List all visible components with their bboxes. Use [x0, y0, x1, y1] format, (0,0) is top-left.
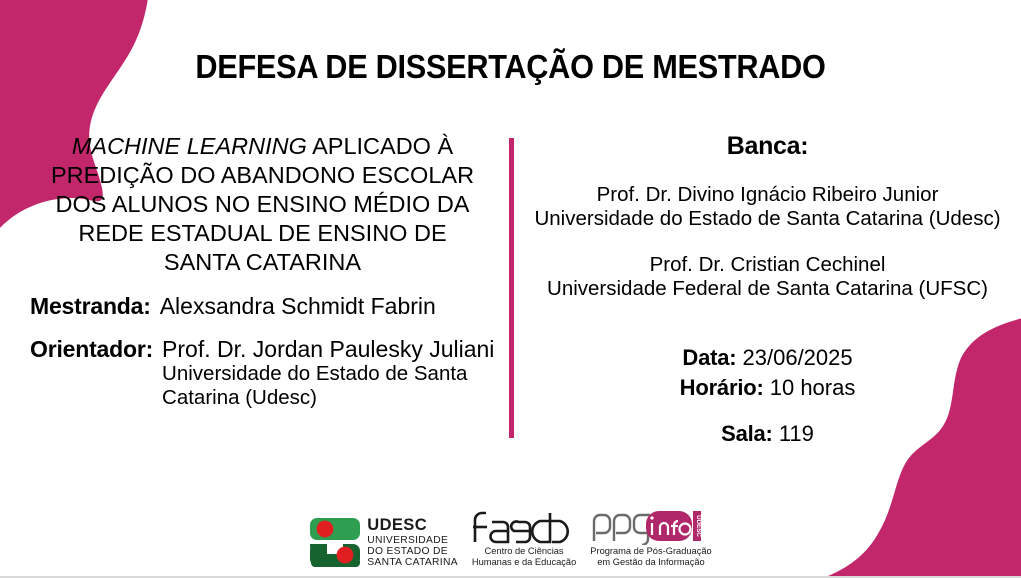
defense-announcement-poster: DEFESA DE DISSERTAÇÃO DE MESTRADO MACHIN…: [0, 0, 1021, 578]
mestranda-name: Alexsandra Schmidt Fabrin: [160, 293, 436, 319]
event-room-line: Sala: 119: [520, 419, 1015, 449]
ppginfo-logo: UDESC Programa de Pós-Graduação em Gestã…: [590, 507, 711, 568]
mestranda-row: Mestranda: Alexsandra Schmidt Fabrin: [30, 293, 495, 320]
faed-subtitle: Centro de Ciências Humanas e da Educação: [472, 546, 576, 568]
ppginfo-line2: em Gestão da Informação: [590, 557, 711, 568]
ppginfo-subtitle: Programa de Pós-Graduação em Gestão da I…: [590, 546, 711, 568]
orientador-institution: Universidade do Estado de Santa Catarina…: [162, 362, 495, 410]
udesc-line1: UNIVERSIDADE: [367, 535, 458, 546]
faed-logo: Centro de Ciências Humanas e da Educação: [472, 510, 576, 568]
banca-member-name: Prof. Dr. Cristian Cechinel: [520, 253, 1015, 277]
event-date-line: Data: 23/06/2025: [520, 343, 1015, 373]
udesc-emblem-icon: [309, 517, 361, 567]
event-time-label: Horário:: [680, 375, 764, 400]
event-room-value: 119: [779, 421, 814, 446]
column-divider: [509, 138, 514, 438]
banca-member-name: Prof. Dr. Divino Ignácio Ribeiro Junior: [520, 183, 1015, 207]
faed-wordmark-icon: [472, 510, 572, 544]
event-date-label: Data:: [682, 345, 736, 370]
page-title: DEFESA DE DISSERTAÇÃO DE MESTRADO: [36, 48, 986, 86]
orientador-row: Orientador: Prof. Dr. Jordan Paulesky Ju…: [30, 336, 495, 410]
ppginfo-wordmark-icon: UDESC: [590, 507, 702, 545]
thesis-title: MACHINE LEARNING APLICADO À PREDIÇÃO DO …: [30, 132, 495, 277]
banca-member: Prof. Dr. Divino Ignácio Ribeiro Junior …: [520, 183, 1015, 231]
orientador-value: Prof. Dr. Jordan Paulesky Juliani Univer…: [162, 336, 495, 410]
udesc-name: UDESC: [367, 517, 458, 535]
event-info: Data: 23/06/2025 Horário: 10 horas Sala:…: [520, 343, 1015, 449]
event-time-value: 10 horas: [770, 375, 856, 400]
right-column: Banca: Prof. Dr. Divino Ignácio Ribeiro …: [520, 132, 1015, 449]
event-time-line: Horário: 10 horas: [520, 373, 1015, 403]
banca-member-institution: Universidade do Estado de Santa Catarina…: [520, 207, 1015, 231]
banca-member-institution: Universidade Federal de Santa Catarina (…: [520, 277, 1015, 301]
banca-member: Prof. Dr. Cristian Cechinel Universidade…: [520, 253, 1015, 301]
udesc-logo: UDESC UNIVERSIDADE DO ESTADO DE SANTA CA…: [309, 517, 458, 568]
orientador-label: Orientador:: [30, 336, 153, 363]
udesc-wordmark: UDESC UNIVERSIDADE DO ESTADO DE SANTA CA…: [367, 517, 458, 568]
thesis-title-italic-part: MACHINE LEARNING: [72, 133, 307, 159]
udesc-line3: SANTA CATARINA: [367, 557, 458, 568]
ppginfo-line1: Programa de Pós-Graduação: [590, 546, 711, 557]
footer-logos: UDESC UNIVERSIDADE DO ESTADO DE SANTA CA…: [0, 507, 1021, 568]
left-column: MACHINE LEARNING APLICADO À PREDIÇÃO DO …: [30, 132, 495, 410]
udesc-line2: DO ESTADO DE: [367, 546, 458, 557]
orientador-name: Prof. Dr. Jordan Paulesky Juliani: [162, 336, 494, 362]
mestranda-label: Mestranda:: [30, 293, 151, 320]
svg-text:UDESC: UDESC: [695, 515, 702, 537]
faed-line1: Centro de Ciências: [472, 546, 576, 557]
faed-line2: Humanas e da Educação: [472, 557, 576, 568]
event-room-label: Sala:: [721, 421, 773, 446]
event-date-value: 23/06/2025: [743, 345, 853, 370]
banca-heading: Banca:: [520, 132, 1015, 161]
